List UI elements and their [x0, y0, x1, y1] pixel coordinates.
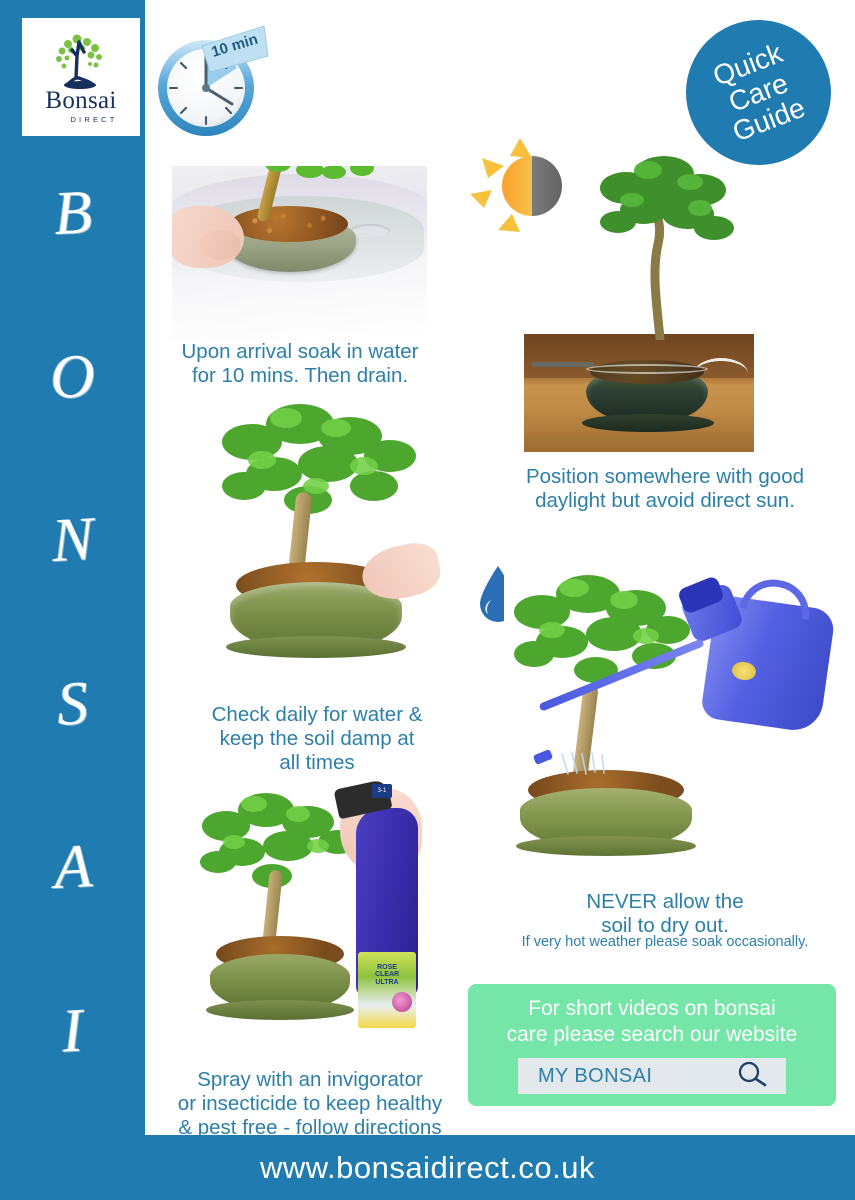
photo-spraying-bonsai: 3-1 ROSE CLEAR ULTRA [182, 778, 432, 1056]
caption-never-line1: NEVER allow the [500, 890, 830, 914]
drip-tray [582, 414, 714, 432]
caption-spray-line2: or insecticide to keep healthy [160, 1092, 460, 1116]
clock-timer-icon: 10 min [152, 16, 270, 142]
caption-check-line2: keep the soil damp at [172, 727, 462, 751]
caption-spray-line1: Spray with an invigorator [160, 1068, 460, 1092]
badge-text-block: Quick Care Guide [708, 38, 810, 148]
poster-root: Bonsai DIRECT B O N S A I Quick Care Gui… [0, 0, 855, 1200]
search-input-value: MY BONSAI [538, 1065, 652, 1088]
product-label: ROSE CLEAR ULTRA [358, 952, 416, 1028]
bonsai-direct-logo[interactable]: Bonsai DIRECT [22, 18, 140, 136]
bonsai-foliage [258, 166, 378, 186]
caption-position-line1: Position somewhere with good [500, 465, 830, 489]
footer-bar: www.bonsaidirect.co.uk [0, 1135, 855, 1200]
caption-never-dry-sub: If very hot weather please soak occasion… [500, 934, 830, 951]
caption-soak-line2: for 10 mins. Then drain. [155, 364, 445, 388]
photo-soak-bonsai-in-sink [172, 166, 427, 339]
caption-soak-line1: Upon arrival soak in water [155, 340, 445, 364]
left-brand-sidebar: Bonsai DIRECT B O N S A I [0, 0, 145, 1135]
caption-spray: Spray with an invigorator or insecticide… [160, 1068, 460, 1141]
product-brand-line3: ULTRA [375, 979, 398, 986]
caption-check-line1: Check daily for water & [172, 703, 462, 727]
magnifier-icon[interactable] [736, 1061, 768, 1092]
footer-website-url[interactable]: www.bonsaidirect.co.uk [260, 1150, 595, 1186]
bonsai-tree-graphic-windowsill [548, 140, 768, 340]
water-stream [558, 752, 616, 778]
rose-graphic-icon [392, 992, 412, 1012]
vertical-letter-o: O [49, 344, 97, 408]
cta-text-block: For short videos on bonsai care please s… [468, 994, 836, 1047]
search-input[interactable]: MY BONSAI [518, 1058, 786, 1094]
cta-line2: care please search our website [478, 1022, 826, 1048]
caption-check-water: Check daily for water & keep the soil da… [172, 703, 462, 776]
caption-soak: Upon arrival soak in water for 10 mins. … [155, 340, 445, 388]
photo-check-soil-moisture [196, 396, 440, 692]
vertical-bonsai-letters: B O N S A I [0, 182, 145, 1062]
caption-never-subline: If very hot weather please soak occasion… [500, 934, 830, 951]
cta-line1: For short videos on bonsai [478, 996, 826, 1022]
caption-check-line3: all times [172, 751, 462, 775]
logo-subtext: DIRECT [70, 115, 117, 124]
bonsai-tree-icon [46, 30, 116, 92]
product-brand-line2: CLEAR [375, 971, 399, 978]
sink-drain [350, 224, 390, 239]
caption-never-dry: NEVER allow the soil to dry out. [500, 890, 830, 938]
drip-tray [226, 636, 406, 658]
caption-position: Position somewhere with good daylight bu… [500, 465, 830, 513]
vertical-letter-i: I [61, 999, 85, 1062]
drip-tray [516, 836, 696, 856]
caption-position-line2: daylight but avoid direct sun. [500, 489, 830, 513]
window-handle [532, 362, 594, 367]
vertical-letter-a: A [52, 835, 93, 899]
vertical-letter-s: S [55, 672, 89, 736]
photo-watering-bonsai [504, 556, 834, 876]
video-search-cta-box: For short videos on bonsai care please s… [468, 984, 836, 1106]
drip-tray [206, 1000, 354, 1020]
product-3in1-badge: 3-1 [372, 784, 392, 798]
product-brand-line1: ROSE [377, 964, 397, 971]
vertical-letter-b: B [52, 181, 93, 245]
vertical-letter-n: N [50, 508, 95, 572]
photo-bonsai-on-windowsill [524, 334, 754, 452]
